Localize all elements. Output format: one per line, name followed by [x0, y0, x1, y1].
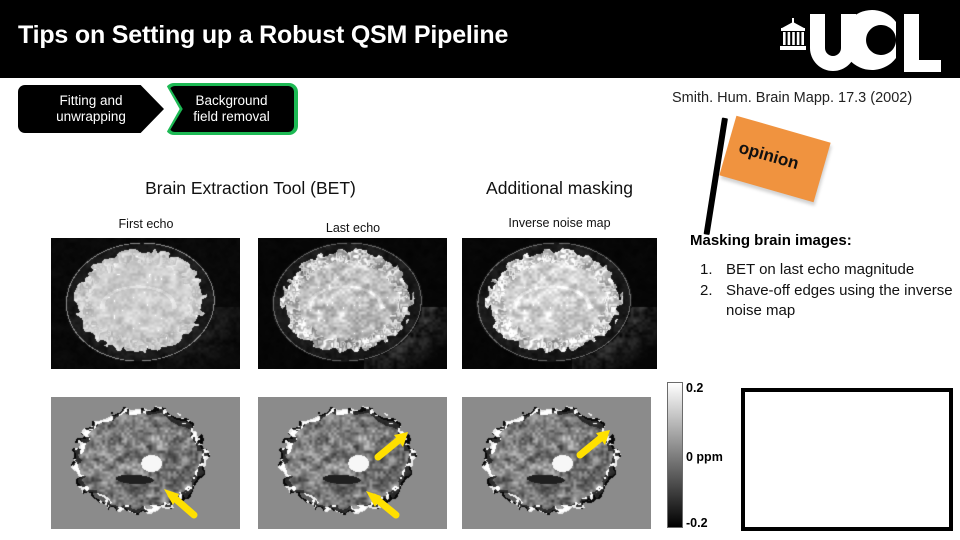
colorbar-mid-label: 0 ppm: [686, 450, 723, 464]
ucl-logo-mark: [778, 8, 946, 72]
ucl-logo: [778, 8, 946, 72]
ucl-wordmark-icon: [810, 10, 941, 72]
figure-group-heading-bet: Brain Extraction Tool (BET): [51, 178, 450, 199]
annotation-arrow-layer: [51, 397, 240, 529]
qsm-image-first-echo-mask: [51, 397, 240, 529]
annotation-arrow-up-left: [366, 491, 396, 515]
figure-group-heading-additional-masking: Additional masking: [462, 178, 657, 199]
empty-content-placeholder[interactable]: [741, 388, 953, 531]
list-item: 2. Shave-off edges using the inverse noi…: [700, 281, 958, 321]
pipeline-step-fitting-label: Fitting and unwrapping: [50, 93, 132, 125]
brain-image-canvas: [462, 238, 657, 369]
annotation-arrow-layer: [258, 397, 447, 529]
pipeline-step-background-field-removal[interactable]: Background field removal: [169, 86, 294, 132]
page-title: Tips on Setting up a Robust QSM Pipeline: [18, 21, 508, 50]
notes-list: 1. BET on last echo magnitude 2. Shave-o…: [700, 260, 958, 322]
brain-image-last-echo-magnitude: [258, 238, 447, 369]
annotation-arrow-up-left: [164, 489, 194, 515]
annotation-arrow-up-right: [378, 432, 408, 457]
list-item-number: 1.: [700, 260, 726, 280]
opinion-flag: opinion: [700, 116, 830, 244]
list-item: 1. BET on last echo magnitude: [700, 260, 958, 280]
pipeline-step-background-line2: field removal: [193, 109, 270, 124]
pipeline-step-background-line1: Background: [195, 93, 267, 108]
figure-column-label-last-echo: Last echo: [258, 221, 448, 235]
figure-column-label-inverse-noise-map: Inverse noise map: [462, 216, 657, 230]
susceptibility-colorbar: [667, 382, 683, 528]
qsm-image-additional-mask: [462, 397, 651, 529]
colorbar-min-label: -0.2: [686, 516, 708, 530]
slide-header: Tips on Setting up a Robust QSM Pipeline: [0, 0, 960, 78]
pipeline-step-fitting-and-unwrapping[interactable]: Fitting and unwrapping: [18, 85, 164, 133]
colorbar-max-label: 0.2: [686, 381, 703, 395]
figure-column-label-first-echo: First echo: [51, 217, 241, 231]
notes-title: Masking brain images:: [690, 232, 852, 249]
reference-citation: Smith. Hum. Brain Mapp. 17.3 (2002): [672, 90, 912, 106]
qsm-image-last-echo-mask: [258, 397, 447, 529]
pipeline-step-fitting-line2: unwrapping: [56, 109, 126, 124]
pipeline-step-fitting-line1: Fitting and: [59, 93, 122, 108]
annotation-arrow-layer: [462, 397, 651, 529]
list-item-text: Shave-off edges using the inverse noise …: [726, 281, 958, 321]
list-item-number: 2.: [700, 281, 726, 321]
brain-image-first-echo-magnitude: [51, 238, 240, 369]
brain-image-inverse-noise-map: [462, 238, 657, 369]
list-item-text: BET on last echo magnitude: [726, 260, 958, 280]
brain-image-canvas: [258, 238, 447, 369]
annotation-arrow-up-right: [580, 430, 610, 455]
pipeline-step-background-label: Background field removal: [187, 93, 276, 125]
brain-image-canvas: [51, 238, 240, 369]
ucl-portico-icon: [780, 18, 806, 50]
